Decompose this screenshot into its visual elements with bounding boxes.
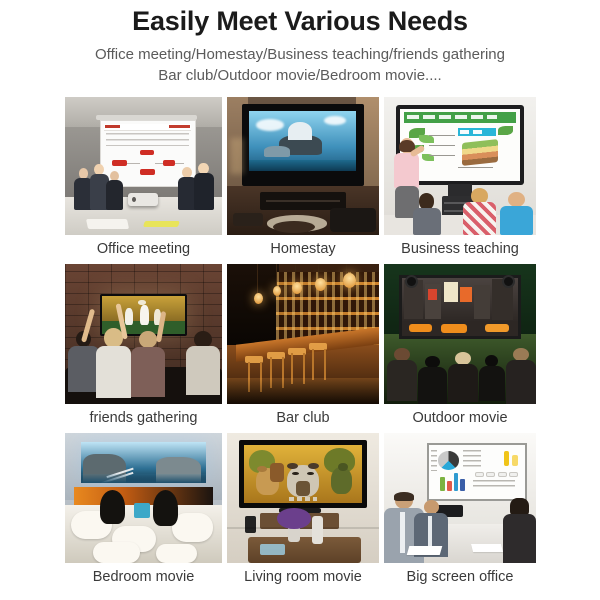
tile-caption: friends gathering — [89, 404, 197, 433]
bar-club-image — [227, 264, 379, 404]
scenario-tile-big-screen-office[interactable]: Big screen office — [384, 433, 536, 592]
homestay-image — [227, 97, 379, 235]
scenario-tile-living-room-movie[interactable]: Living room movie — [227, 433, 379, 592]
living-room-movie-image — [227, 433, 379, 563]
scenario-tile-homestay[interactable]: Homestay — [227, 97, 379, 264]
subtitle-line-2: Bar club/Outdoor movie/Bedroom movie.... — [158, 67, 441, 84]
page-title: Easily Meet Various Needs — [0, 6, 600, 37]
scenario-tile-friends-gathering[interactable]: friends gathering — [65, 264, 222, 433]
business-teaching-image — [384, 97, 536, 235]
tile-caption: Business teaching — [401, 235, 519, 264]
outdoor-movie-image — [384, 264, 536, 404]
scenario-tile-bedroom-movie[interactable]: Bedroom movie — [65, 433, 222, 592]
promo-page: Easily Meet Various Needs Office meeting… — [0, 0, 600, 600]
tile-caption: Big screen office — [407, 563, 514, 592]
scenario-tile-business-teaching[interactable]: Business teaching — [384, 97, 536, 264]
bedroom-movie-image — [65, 433, 222, 563]
page-header: Easily Meet Various Needs Office meeting… — [0, 0, 600, 87]
tile-caption: Bar club — [276, 404, 329, 433]
tile-caption: Living room movie — [244, 563, 362, 592]
page-subtitle: Office meeting/Homestay/Business teachin… — [0, 44, 600, 87]
scenario-tile-bar-club[interactable]: Bar club — [227, 264, 379, 433]
scenario-tile-outdoor-movie[interactable]: Outdoor movie — [384, 264, 536, 433]
tile-caption: Outdoor movie — [412, 404, 507, 433]
scenario-grid: Office meeting — [65, 97, 535, 592]
subtitle-line-1: Office meeting/Homestay/Business teachin… — [95, 46, 505, 63]
tile-caption: Bedroom movie — [93, 563, 195, 592]
tile-caption: Office meeting — [97, 235, 190, 264]
office-meeting-image — [65, 97, 222, 235]
scenario-tile-office-meeting[interactable]: Office meeting — [65, 97, 222, 264]
big-screen-office-image — [384, 433, 536, 563]
friends-gathering-image — [65, 264, 222, 404]
tile-caption: Homestay — [270, 235, 335, 264]
